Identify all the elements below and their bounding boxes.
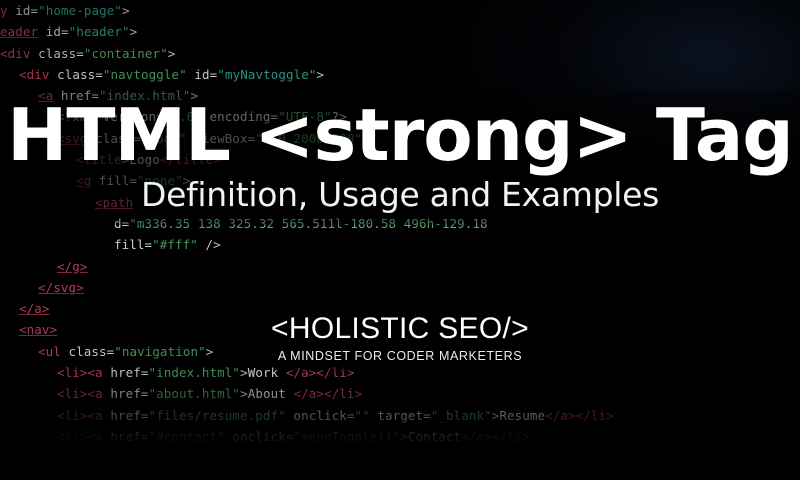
code-line: <li><a href="#contact" onclick="menuTogg… [0, 426, 800, 447]
code-token: > [168, 46, 176, 61]
code-token: encoding= [202, 109, 278, 124]
code-token: <div [19, 67, 50, 82]
code-token: </title> [160, 152, 221, 167]
code-line: fill="#fff" /> [0, 234, 800, 255]
code-token: viewBox= [187, 131, 256, 146]
code-token: d= [114, 216, 129, 231]
code-token: target= [370, 408, 431, 423]
code-token: href= [103, 365, 149, 380]
code-token: <li> [57, 429, 88, 444]
code-token: "#contact" [149, 429, 225, 444]
code-token: eader [0, 24, 38, 39]
code-token: <path [95, 195, 133, 210]
code-line: <nav> [0, 319, 800, 340]
code-token: "navigation" [114, 344, 206, 359]
code-token: > [240, 386, 248, 401]
code-token: </a> [19, 301, 50, 316]
code-token: onclick= [286, 408, 355, 423]
code-token: href= [103, 408, 149, 423]
code-token: > [191, 88, 199, 103]
code-token: ?> [332, 109, 347, 124]
code-token: </a></li> [461, 429, 530, 444]
code-token: </a></li> [293, 386, 362, 401]
code-token: Logo [129, 152, 160, 167]
code-token: <li> [57, 408, 88, 423]
code-token: class= [31, 46, 84, 61]
code-token: "UTF-8" [278, 109, 331, 124]
code-token: /> [198, 237, 221, 252]
code-line: <li><a href="about.html">About </a></li> [0, 383, 800, 404]
code-token: > [240, 365, 248, 380]
code-token: "myNavtoggle" [217, 67, 316, 82]
code-token: <g [76, 173, 91, 188]
code-token: "logo" [141, 131, 187, 146]
code-token: class= [61, 344, 114, 359]
code-token: > [122, 3, 130, 18]
code-token: <nav> [19, 322, 57, 337]
code-token: About [248, 386, 294, 401]
code-background-layer: y id="home-page">eader id="header"><div … [0, 0, 800, 480]
code-token: <title [76, 152, 122, 167]
code-token: <a [88, 408, 103, 423]
code-line: <?xml version="1.0" encoding="UTF-8"?> [0, 106, 800, 127]
code-line: d="m336.35 138 325.32 565.511l-180.58 49… [0, 213, 800, 234]
code-token: "header" [69, 24, 130, 39]
code-line: <svg class="logo" viewBox="0 0 2000/200"… [0, 128, 800, 149]
code-token: <ul [38, 344, 61, 359]
code-token: "" [354, 408, 369, 423]
code-line: <li><a href="index.html">Work </a></li> [0, 362, 800, 383]
code-token: > [183, 173, 191, 188]
code-token: class= [50, 67, 103, 82]
code-token: <li> [57, 365, 88, 380]
code-token: fill= [91, 173, 137, 188]
code-token: "about.html" [149, 386, 241, 401]
code-line: <div class="container"> [0, 43, 800, 64]
code-token: fill= [114, 237, 152, 252]
code-token: "index.html" [149, 365, 241, 380]
hero-banner: y id="home-page">eader id="header"><div … [0, 0, 800, 480]
code-token: href= [103, 386, 149, 401]
code-line: <title>Logo</title> [0, 149, 800, 170]
code-token: <div [0, 46, 31, 61]
code-line: <li><a href="files/resume.pdf" onclick="… [0, 405, 800, 426]
code-token: > [316, 67, 324, 82]
code-token: <li> [57, 386, 88, 401]
code-token: id= [187, 67, 218, 82]
code-token: > [206, 344, 214, 359]
code-token: "0 0 2000/200" [255, 131, 362, 146]
code-token: "menuToggle()" [293, 429, 400, 444]
code-token: Resume [499, 408, 545, 423]
code-token: > [362, 131, 370, 146]
code-token: "none" [137, 173, 183, 188]
code-token: "navtoggle" [103, 67, 187, 82]
code-token: version= [95, 109, 164, 124]
code-line: <ul class="navigation"> [0, 341, 800, 362]
code-line: <div class="navtoggle" id="myNavtoggle"> [0, 64, 800, 85]
code-token: "container" [84, 46, 168, 61]
code-token: href= [103, 429, 149, 444]
code-line: <g fill="none"> [0, 170, 800, 191]
code-token: > [400, 429, 408, 444]
code-token: > [130, 24, 138, 39]
code-token: "#fff" [152, 237, 198, 252]
code-token: <?xml [57, 109, 95, 124]
code-token: "home-page" [38, 3, 122, 18]
code-line: y id="home-page"> [0, 0, 800, 21]
code-token: "m336.35 138 325.32 565.511l-180.58 496h… [129, 216, 487, 231]
code-line: <path [0, 192, 800, 213]
code-line: </svg> [0, 277, 800, 298]
code-token: </g> [57, 259, 88, 274]
code-token: y [0, 3, 15, 18]
code-token: href= [53, 88, 99, 103]
code-token: <svg [57, 131, 88, 146]
code-line: </g> [0, 256, 800, 277]
code-token: class= [88, 131, 141, 146]
code-token: "1.0" [164, 109, 202, 124]
code-token: Work [248, 365, 286, 380]
code-token: </svg> [38, 280, 84, 295]
code-token: Contact [408, 429, 461, 444]
code-token: <a [88, 365, 103, 380]
code-token: id= [15, 3, 38, 18]
code-token: <a [38, 88, 53, 103]
code-line: eader id="header"> [0, 21, 800, 42]
code-token: id= [38, 24, 69, 39]
code-token: "_blank" [431, 408, 492, 423]
code-line: </a> [0, 298, 800, 319]
code-token: </a></li> [545, 408, 614, 423]
code-token: <a [88, 386, 103, 401]
code-token: "files/resume.pdf" [149, 408, 286, 423]
code-token: onclick= [225, 429, 294, 444]
code-token: "index.html" [99, 88, 191, 103]
code-token: <a [88, 429, 103, 444]
code-token: </a></li> [286, 365, 355, 380]
code-line: <a href="index.html"> [0, 85, 800, 106]
